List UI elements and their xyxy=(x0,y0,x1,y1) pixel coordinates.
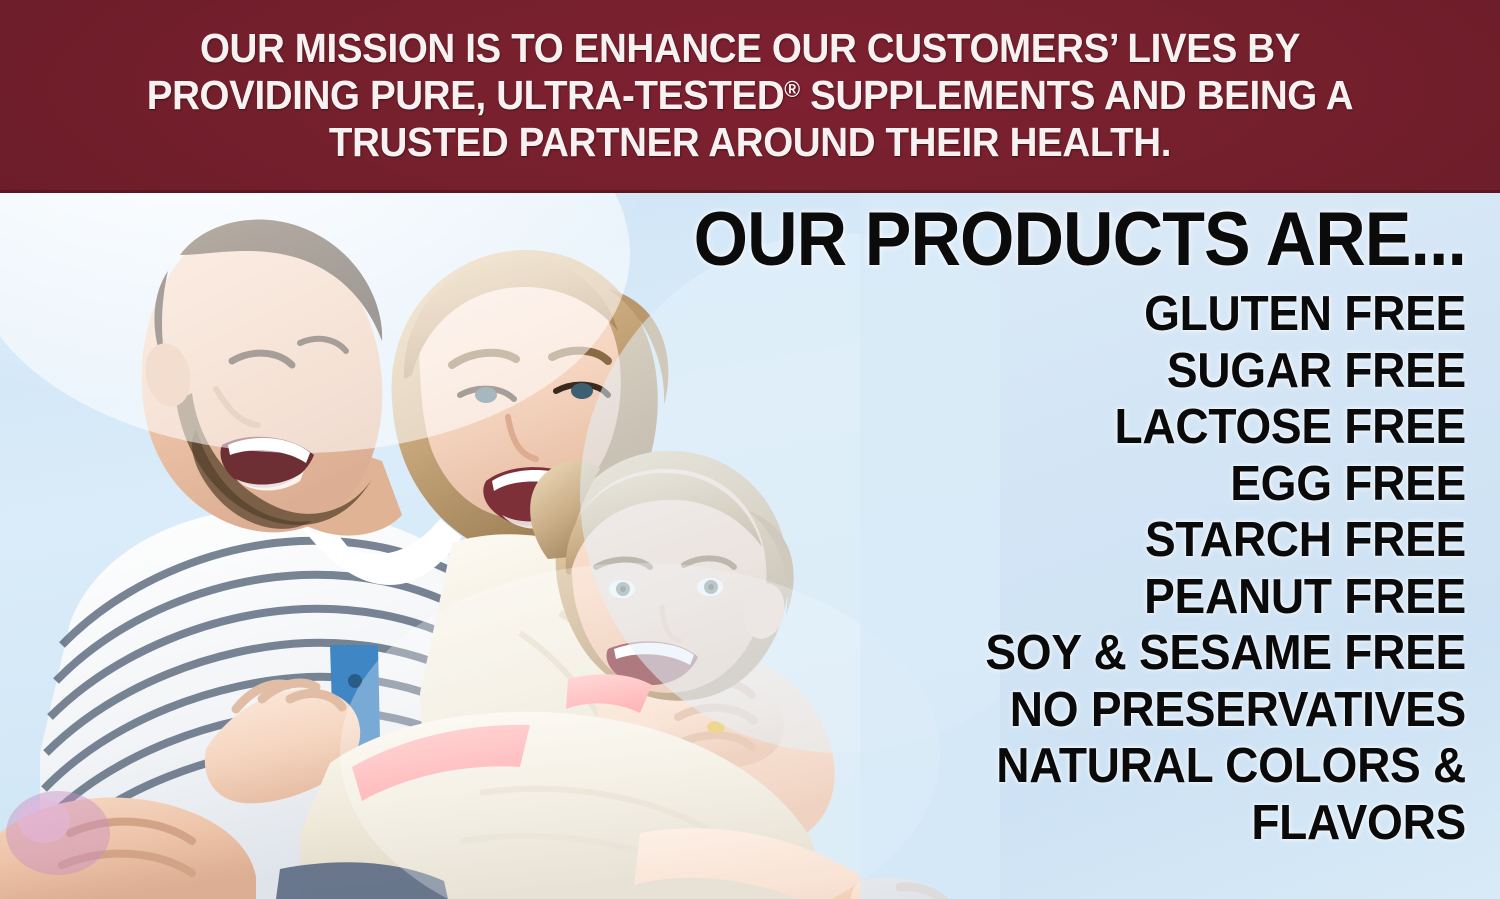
list-item: LACTOSE FREE xyxy=(620,399,1466,456)
mission-banner: OUR MISSION IS TO ENHANCE OUR CUSTOMERS’… xyxy=(0,0,1500,193)
list-item: NATURAL COLORS & xyxy=(620,738,1466,795)
mission-statement: OUR MISSION IS TO ENHANCE OUR CUSTOMERS’… xyxy=(78,25,1422,166)
list-item: EGG FREE xyxy=(620,456,1466,513)
list-item: STARCH FREE xyxy=(620,512,1466,569)
registered-trademark-icon: ® xyxy=(784,76,800,102)
products-panel: OUR PRODUCTS ARE... GLUTEN FREE SUGAR FR… xyxy=(566,200,1466,851)
product-claims-poster: OUR MISSION IS TO ENHANCE OUR CUSTOMERS’… xyxy=(0,0,1500,899)
list-item: PEANUT FREE xyxy=(620,569,1466,626)
list-item: SOY & SESAME FREE xyxy=(620,625,1466,682)
page-title: OUR PRODUCTS ARE... xyxy=(638,200,1466,280)
list-item: FLAVORS xyxy=(620,795,1466,852)
list-item: NO PRESERVATIVES xyxy=(620,682,1466,739)
list-item: GLUTEN FREE xyxy=(620,286,1466,343)
list-item: SUGAR FREE xyxy=(620,343,1466,400)
product-claims-list: GLUTEN FREE SUGAR FREE LACTOSE FREE EGG … xyxy=(566,286,1466,851)
